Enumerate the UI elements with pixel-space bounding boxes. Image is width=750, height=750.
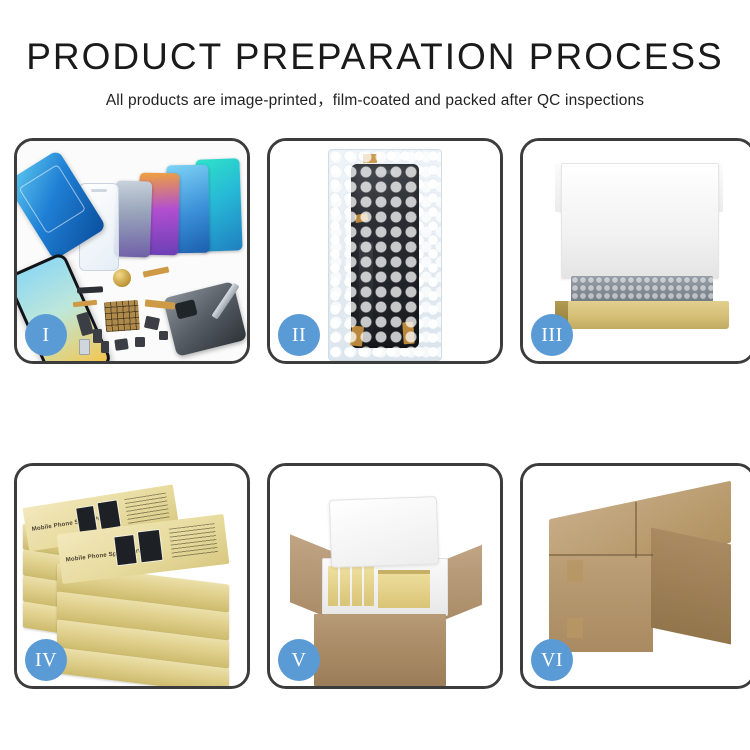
small-part-icon <box>101 341 109 353</box>
box-product-thumb-icon <box>97 499 122 530</box>
process-step-panel-4[interactable]: Mobile Phone Spare Parts Mobile Phone Sp… <box>14 463 250 689</box>
process-step-grid: I II III <box>14 138 736 689</box>
inner-kraft-box-icon <box>328 566 338 606</box>
tape-icon <box>363 154 377 163</box>
small-part-icon <box>144 316 160 331</box>
tape-icon <box>402 322 415 345</box>
step-badge-2: II <box>278 314 320 356</box>
carton-side-face-icon <box>651 527 731 644</box>
carton-seam-icon <box>635 502 637 558</box>
foam-box-lid-icon <box>329 496 439 568</box>
small-part-icon <box>114 338 128 351</box>
inner-kraft-box-icon <box>352 566 362 606</box>
screen-flex-cable-icon <box>359 242 373 338</box>
carton-tape-icon <box>567 618 583 638</box>
step-badge-5: V <box>278 639 320 681</box>
phone-silver-icon <box>114 180 153 257</box>
process-step-panel-2[interactable]: II <box>267 138 503 364</box>
box-spec-lines-icon <box>124 493 170 525</box>
inner-kraft-box-icon <box>364 566 374 606</box>
carton-tape-icon <box>567 560 583 582</box>
inner-kraft-box-icon <box>378 570 430 608</box>
box-product-thumb-icon <box>113 534 137 566</box>
grey-bubble-pack-icon <box>571 276 713 304</box>
step-badge-1: I <box>25 314 67 356</box>
speaker-coil-part-icon <box>113 269 131 287</box>
process-step-panel-1[interactable]: I <box>14 138 250 364</box>
process-step-panel-3[interactable]: III <box>520 138 750 364</box>
chip-grid-part-icon <box>104 300 140 332</box>
small-part-icon <box>159 331 168 340</box>
inner-kraft-box-icon <box>378 570 430 574</box>
step-badge-3: III <box>531 314 573 356</box>
bubble-wrap-bag-icon <box>328 149 442 361</box>
step-badge-4: IV <box>25 639 67 681</box>
process-step-panel-6[interactable]: VI <box>520 463 750 689</box>
kraft-box-tray-icon <box>555 301 729 329</box>
page-subtitle: All products are image-printed，film-coat… <box>0 88 750 110</box>
tape-icon <box>350 325 364 346</box>
page-header: PRODUCT PREPARATION PROCESS All products… <box>0 0 750 110</box>
white-foam-lining-icon <box>561 163 719 279</box>
box-product-thumb-icon <box>137 529 164 564</box>
carton-seam-icon <box>549 554 653 556</box>
step-badge-6: VI <box>531 639 573 681</box>
sim-tray-part-icon <box>79 339 90 355</box>
inner-kraft-box-icon <box>340 566 350 606</box>
carton-body-icon <box>314 614 446 686</box>
box-spec-lines-icon <box>169 523 218 558</box>
carton-front-face-icon <box>549 554 653 652</box>
small-part-icon <box>135 337 145 347</box>
process-step-panel-5[interactable]: V <box>267 463 503 689</box>
page-title: PRODUCT PREPARATION PROCESS <box>0 38 750 75</box>
